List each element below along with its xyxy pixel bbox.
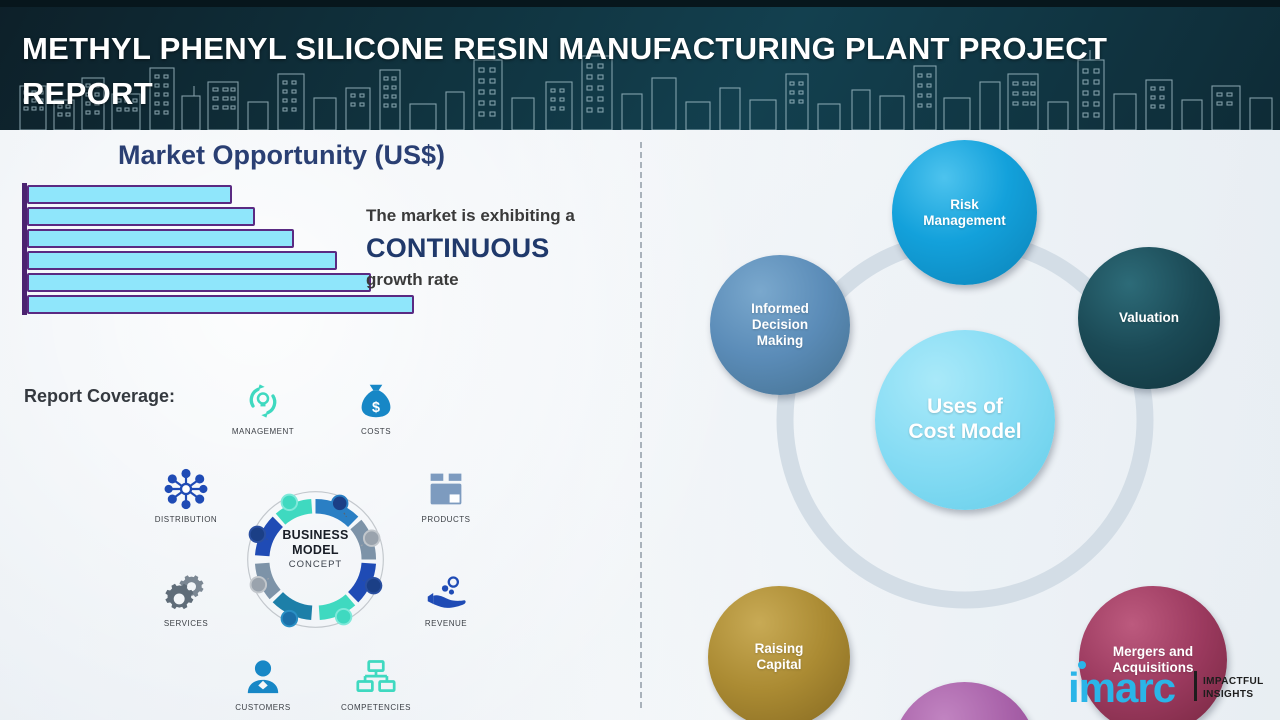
node-label-line-1: Risk [917, 197, 1012, 213]
svg-text:INSIGHTS: INSIGHTS [1203, 689, 1253, 700]
growth-statement: The market is exhibiting a CONTINUOUS gr… [366, 205, 634, 291]
coverage-item-costs: $ COSTS [328, 378, 424, 436]
growth-emphasis: CONTINUOUS [366, 227, 634, 269]
imarc-logo[interactable]: imarc IMPACTFUL INSIGHTS [1068, 658, 1268, 710]
chart-bar [27, 185, 232, 204]
node-raising-capital[interactable]: Raising Capital [708, 586, 850, 720]
coverage-item-competencies: COMPETENCIES [328, 654, 424, 712]
coverage-label-text: SERVICES [138, 619, 234, 628]
center-node-line-2: Cost Model [902, 420, 1027, 445]
coverage-label-text: PRODUCTS [398, 515, 494, 524]
left-panel: Market Opportunity (US$) The market is e… [0, 130, 640, 720]
growth-line-1: The market is exhibiting a [366, 205, 634, 227]
svg-text:imarc: imarc [1068, 664, 1176, 710]
coverage-label-text: COSTS [328, 427, 424, 436]
node-informed-decision-making[interactable]: Informed Decision Making [710, 255, 850, 395]
node-label-line-3: Making [745, 333, 815, 349]
hand-coins-icon [398, 570, 494, 616]
coverage-item-distribution: DISTRIBUTION [138, 466, 234, 524]
market-opportunity-bar-chart [22, 183, 422, 315]
coverage-item-services: SERVICES [138, 570, 234, 628]
coverage-label-text: COMPETENCIES [328, 703, 424, 712]
header-top-strip [0, 0, 1280, 7]
right-panel: Uses of Cost Model Risk Management Valua… [640, 130, 1280, 720]
center-node-uses-of-cost-model: Uses of Cost Model [875, 330, 1055, 510]
center-node-line-1: Uses of [902, 395, 1027, 420]
chart-bar [27, 295, 414, 314]
coverage-item-products: PRODUCTS [398, 466, 494, 524]
business-model-donut [238, 482, 393, 637]
coverage-item-customers: CUSTOMERS [215, 654, 311, 712]
node-label-line-2: Management [917, 213, 1012, 229]
coverage-label-text: REVENUE [398, 619, 494, 628]
coverage-item-revenue: REVENUE [398, 570, 494, 628]
node-label-line-1: Raising [749, 641, 810, 657]
money-bag-icon: $ [328, 378, 424, 424]
business-model-cluster: MANAGEMENT $ COSTS [140, 378, 490, 718]
chart-bar [27, 207, 255, 226]
org-chart-icon [328, 654, 424, 700]
coverage-item-management: MANAGEMENT [215, 378, 311, 436]
node-label: Valuation [1113, 310, 1185, 326]
content-stage: Market Opportunity (US$) The market is e… [0, 130, 1280, 720]
growth-line-3: growth rate [366, 269, 634, 291]
node-label-line-2: Capital [749, 657, 810, 673]
chart-bar [27, 229, 294, 248]
node-label-line-2: Decision [745, 317, 815, 333]
node-label-line-1: Informed [745, 301, 815, 317]
svg-text:$: $ [372, 400, 380, 416]
product-box-icon [398, 466, 494, 512]
svg-text:IMPACTFUL: IMPACTFUL [1203, 676, 1264, 687]
chart-bar [27, 251, 337, 270]
recycle-lightbulb-icon [215, 378, 311, 424]
coverage-label-text: CUSTOMERS [215, 703, 311, 712]
network-nodes-icon [138, 466, 234, 512]
node-risk-management[interactable]: Risk Management [892, 140, 1037, 285]
coverage-label-text: DISTRIBUTION [138, 515, 234, 524]
user-person-icon [215, 654, 311, 700]
node-valuation[interactable]: Valuation [1078, 247, 1220, 389]
page-title: METHYL PHENYL SILICONE RESIN MANUFACTURI… [22, 26, 1122, 116]
market-opportunity-title: Market Opportunity (US$) [118, 140, 445, 171]
coverage-label-text: MANAGEMENT [215, 427, 311, 436]
chart-bar [27, 273, 371, 292]
gears-icon [138, 570, 234, 616]
page-header: METHYL PHENYL SILICONE RESIN MANUFACTURI… [0, 0, 1280, 130]
